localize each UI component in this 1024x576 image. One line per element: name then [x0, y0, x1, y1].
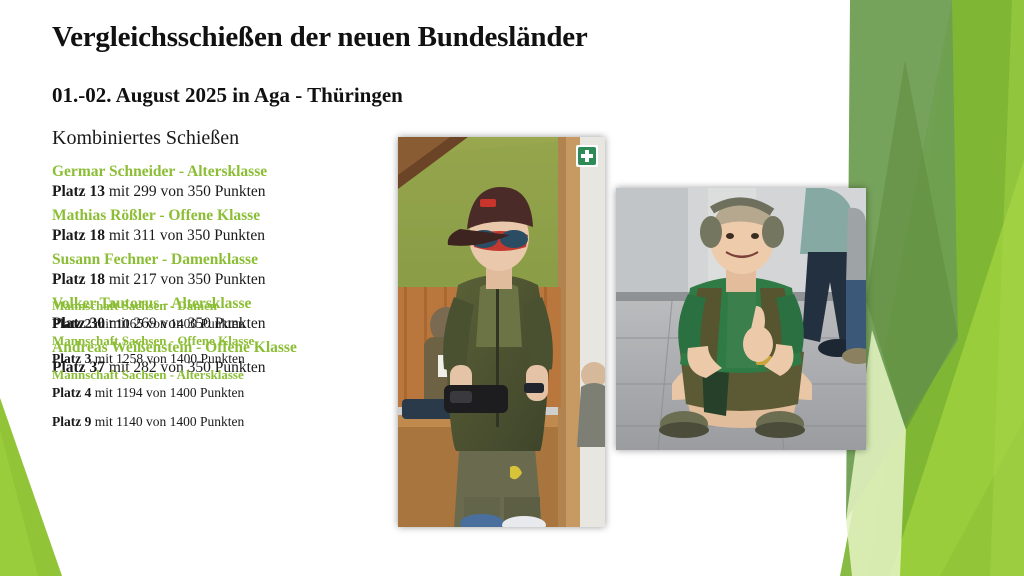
result-points: mit 217 von 350 Punkten	[109, 271, 266, 288]
deco-shape-right-bottom	[900, 240, 1024, 576]
deco-shape-right-mid	[840, 0, 1024, 576]
team-score: Platz 3 mit 1258 von 1400 Punkten	[52, 350, 404, 368]
team-points: mit 1140 von 1400 Punkten	[95, 414, 245, 429]
result-points: mit 311 von 350 Punkten	[109, 227, 265, 244]
deco-shape-right-base	[868, 0, 1024, 576]
team-name: Mannschaft Sachsen - Altersklasse	[52, 367, 404, 384]
slide-subtitle: 01.-02. August 2025 in Aga - Thüringen	[52, 84, 403, 107]
deco-shape-right-dark	[866, 60, 958, 430]
team-place: Platz 3	[52, 351, 91, 366]
page-title: Vergleichsschießen der neuen Bundeslände…	[52, 22, 402, 54]
deco-shape-right-bottom-2	[868, 420, 1024, 576]
team-place: Platz 2	[52, 316, 91, 331]
section-label: Kombiniertes Schießen	[52, 127, 239, 150]
content-text-column: Vergleichsschießen der neuen Bundeslände…	[52, 22, 402, 54]
result-score: Platz 13 mit 299 von 350 Punkten	[52, 182, 404, 202]
result-entry: Germar Schneider - Altersklasse Platz 13…	[52, 162, 404, 202]
team-name: Mannschaft Sachsen - Damen	[52, 298, 404, 315]
team-points: mit 1194 von 1400 Punkten	[95, 385, 245, 400]
result-entry: Mathias Rößler - Offene Klasse Platz 18 …	[52, 206, 404, 246]
team-place: Platz 9	[52, 414, 91, 429]
team-points: mit 1258 von 1400 Punkten	[95, 351, 245, 366]
photo-shooter-seated	[616, 188, 866, 450]
result-place: Platz 18	[52, 227, 105, 244]
result-score: Platz 18 mit 217 von 350 Punkten	[52, 270, 404, 290]
result-entry: Susann Fechner - Damenklasse Platz 18 mi…	[52, 250, 404, 290]
result-name: Germar Schneider - Altersklasse	[52, 162, 404, 182]
result-place: Platz 13	[52, 183, 105, 200]
deco-shape-right-highlight	[990, 0, 1024, 576]
result-name: Mathias Rößler - Offene Klasse	[52, 206, 404, 226]
team-score: Platz 2 mit 1065 von 1400 Punkten	[52, 315, 404, 333]
result-points: mit 299 von 350 Punkten	[109, 183, 266, 200]
result-score: Platz 18 mit 311 von 350 Punkten	[52, 226, 404, 246]
team-score: Platz 4 mit 1194 von 1400 Punkten	[52, 384, 404, 402]
result-name: Susann Fechner - Damenklasse	[52, 250, 404, 270]
slide-canvas: Vergleichsschießen der neuen Bundeslände…	[0, 0, 1024, 576]
team-points: mit 1065 von 1400 Punkten	[95, 316, 245, 331]
team-place: Platz 4	[52, 385, 91, 400]
team-score-extra: Platz 9 mit 1140 von 1400 Punkten	[52, 413, 404, 431]
team-name: Mannschaft Sachsen - Offene Klasse	[52, 333, 404, 350]
team-results-list: Mannschaft Sachsen - Damen Platz 2 mit 1…	[52, 298, 404, 431]
result-place: Platz 18	[52, 271, 105, 288]
photo-shooter-standing	[398, 137, 605, 527]
